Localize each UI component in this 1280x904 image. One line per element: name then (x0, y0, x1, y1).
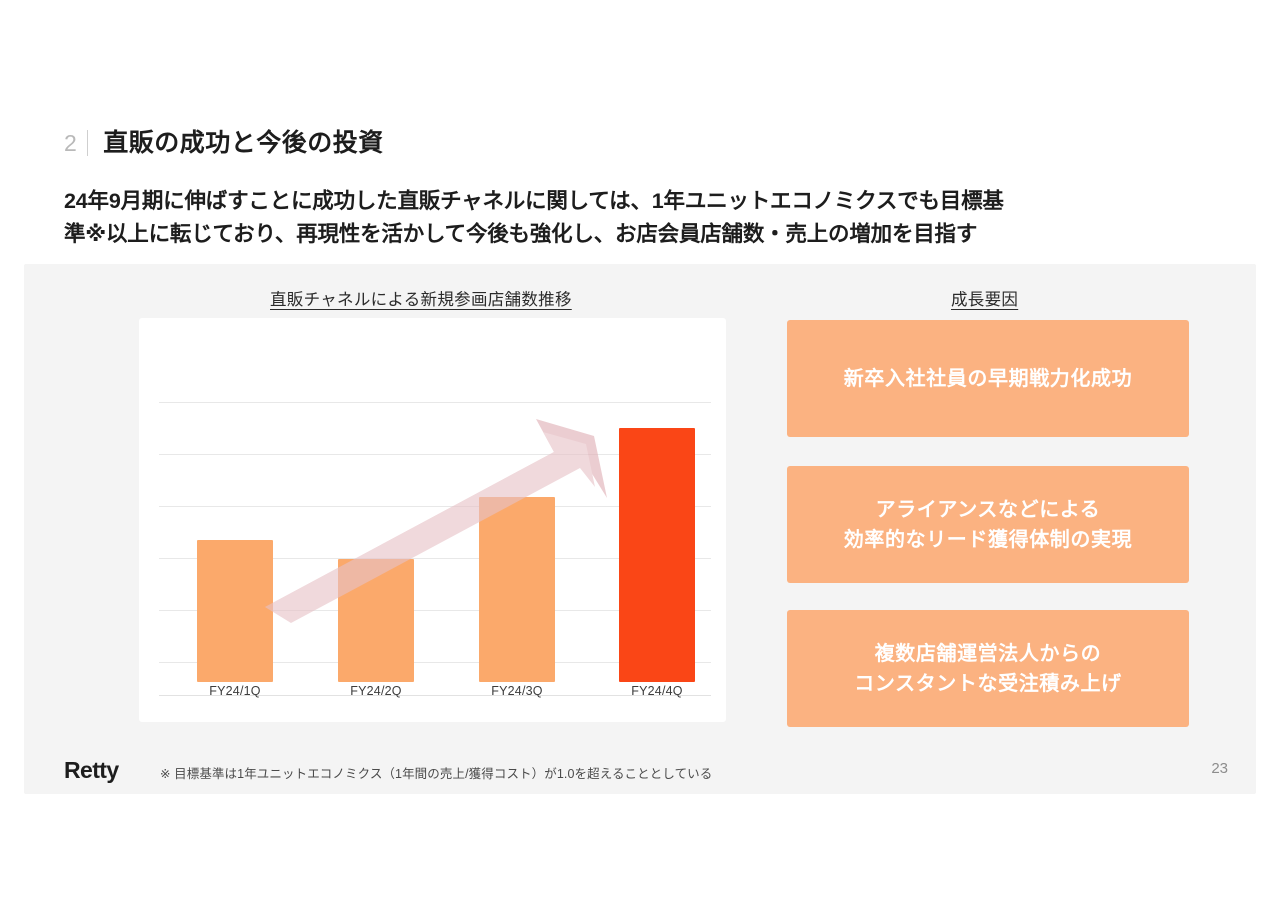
xtick-fy24-1q: FY24/1Q (185, 684, 285, 698)
growth-factor-card-3: 複数店舗運営法人からの コンスタントな受注積み上げ (787, 610, 1189, 727)
page-title: 直販の成功と今後の投資 (103, 131, 384, 156)
x-axis-labels: FY24/1Q FY24/2Q FY24/3Q FY24/4Q (159, 684, 711, 708)
footnote-text: ※ 目標基準は1年ユニットエコノミクス（1年間の売上/獲得コスト）が1.0を超え… (160, 763, 712, 782)
growth-factor-2-line-1: アライアンスなどによる (844, 495, 1132, 525)
bar-chart: FY24/1Q FY24/2Q FY24/3Q FY24/4Q (139, 318, 726, 722)
growth-factor-2-line-2: 効率的なリード獲得体制の実現 (844, 525, 1132, 555)
bar-fy24-2q (338, 559, 414, 682)
xtick-fy24-3q: FY24/3Q (467, 684, 567, 698)
growth-factor-1-line-1: 新卒入社社員の早期戦力化成功 (844, 364, 1132, 394)
page-number: 23 (1211, 760, 1228, 777)
growth-factor-card-1: 新卒入社社員の早期戦力化成功 (787, 320, 1189, 437)
lead-line-2: 準※以上に転じており、再現性を活かして今後も強化し、お店会員店舗数・売上の増加を… (64, 218, 1224, 251)
bar-series (159, 332, 711, 695)
slide-header: 2 直販の成功と今後の投資 (64, 130, 384, 156)
lead-line-1: 24年9月期に伸ばすことに成功した直販チャネルに関しては、1年ユニットエコノミク… (64, 189, 1004, 213)
growth-factor-card-2: アライアンスなどによる 効率的なリード獲得体制の実現 (787, 466, 1189, 583)
factors-caption: 成長要因 (951, 286, 1018, 310)
retty-logo: Retty (64, 757, 119, 784)
chart-caption: 直販チャネルによる新規参画店舗数推移 (270, 286, 572, 310)
growth-factor-3-line-1: 複数店舗運営法人からの (854, 639, 1121, 669)
bar-fy24-3q (479, 497, 555, 682)
xtick-fy24-4q: FY24/4Q (607, 684, 707, 698)
xtick-fy24-2q: FY24/2Q (326, 684, 426, 698)
growth-factor-3-line-2: コンスタントな受注積み上げ (854, 669, 1121, 699)
slide: 2 直販の成功と今後の投資 24年9月期に伸ばすことに成功した直販チャネルに関し… (0, 0, 1280, 904)
header-divider (87, 130, 88, 156)
bar-fy24-4q (619, 428, 695, 682)
bar-fy24-1q (197, 540, 273, 682)
section-number: 2 (64, 132, 77, 155)
lead-paragraph: 24年9月期に伸ばすことに成功した直販チャネルに関しては、1年ユニットエコノミク… (64, 185, 1224, 252)
